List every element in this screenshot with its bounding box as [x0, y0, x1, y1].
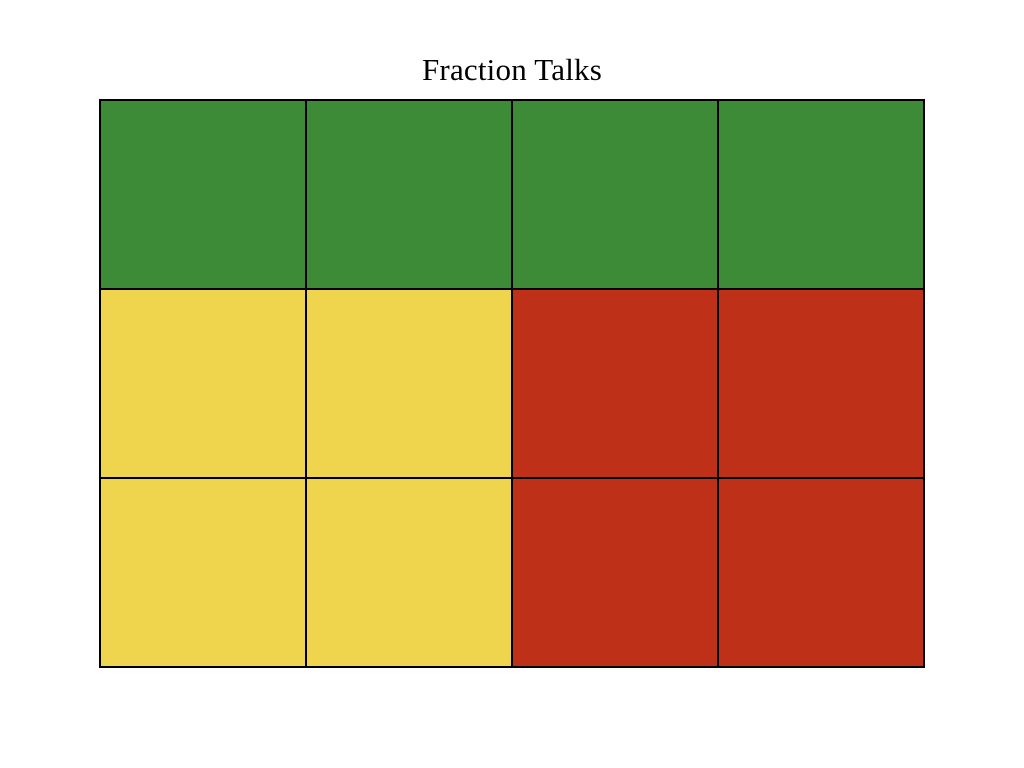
cell-r3c2[interactable] [307, 479, 511, 666]
cell-r1c4[interactable] [719, 101, 923, 288]
cell-r3c4[interactable] [719, 479, 923, 666]
figure-canvas: Fraction Talks [0, 0, 1024, 768]
cell-r2c1[interactable] [101, 290, 305, 477]
cell-r3c3[interactable] [513, 479, 717, 666]
cell-r3c1[interactable] [101, 479, 305, 666]
cell-r1c2[interactable] [307, 101, 511, 288]
fraction-grid [99, 99, 925, 668]
cell-r1c3[interactable] [513, 101, 717, 288]
cell-r2c3[interactable] [513, 290, 717, 477]
cell-r1c1[interactable] [101, 101, 305, 288]
cell-r2c4[interactable] [719, 290, 923, 477]
fraction-grid-container [99, 99, 925, 668]
page-title: Fraction Talks [0, 50, 1024, 90]
cell-r2c2[interactable] [307, 290, 511, 477]
